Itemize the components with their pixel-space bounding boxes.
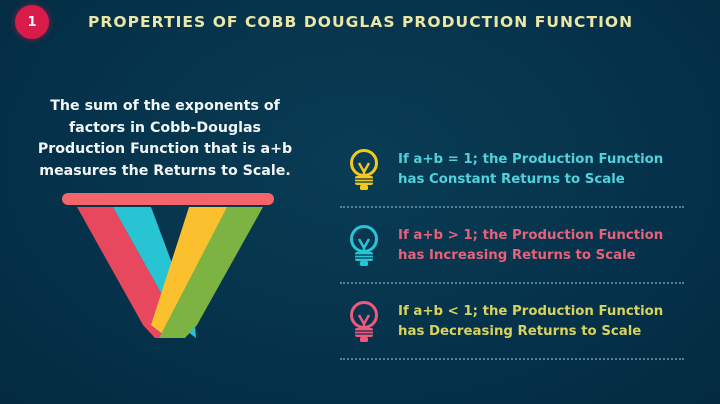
fact-row: If a+b > 1; the Production Function has … [336, 210, 708, 282]
fact-line-1: If a+b < 1; the Production Function [398, 302, 708, 322]
bulb-icon-wrap [336, 147, 392, 193]
v-stripes [55, 207, 285, 338]
left-column: The sum of the exponents of factors in C… [20, 96, 310, 182]
statement-line-2: factors in Cobb-Douglas [20, 118, 310, 140]
statement-line-1: The sum of the exponents of [20, 96, 310, 118]
step-number-badge: 1 [15, 5, 49, 39]
statement-text: The sum of the exponents of factors in C… [20, 96, 310, 182]
fact-line-2: has Constant Returns to Scale [398, 170, 708, 190]
v-top-bar [62, 193, 274, 205]
fact-row: If a+b < 1; the Production Function has … [336, 286, 708, 358]
bulb-icon-wrap [336, 299, 392, 345]
lightbulb-icon [346, 299, 382, 345]
statement-line-4: measures the Returns to Scale. [20, 161, 310, 183]
bulb-icon-wrap [336, 223, 392, 269]
lightbulb-icon [346, 147, 382, 193]
statement-line-3: Production Function that is a+b [20, 139, 310, 161]
fact-text: If a+b = 1; the Production Function has … [392, 150, 708, 189]
fact-line-2: has Increasing Returns to Scale [398, 246, 708, 266]
facts-column: If a+b = 1; the Production Function has … [336, 134, 708, 362]
fact-text: If a+b < 1; the Production Function has … [392, 302, 708, 341]
fact-line-1: If a+b = 1; the Production Function [398, 150, 708, 170]
fact-line-1: If a+b > 1; the Production Function [398, 226, 708, 246]
lightbulb-icon [346, 223, 382, 269]
divider [340, 358, 684, 362]
fact-text: If a+b > 1; the Production Function has … [392, 226, 708, 265]
page-title: PROPERTIES OF COBB DOUGLAS PRODUCTION FU… [88, 13, 633, 31]
slide-canvas: 1 PROPERTIES OF COBB DOUGLAS PRODUCTION … [0, 0, 720, 404]
v-shape-graphic [55, 193, 285, 338]
slide-header: 1 PROPERTIES OF COBB DOUGLAS PRODUCTION … [0, 0, 720, 48]
fact-line-2: has Decreasing Returns to Scale [398, 322, 708, 342]
fact-row: If a+b = 1; the Production Function has … [336, 134, 708, 206]
